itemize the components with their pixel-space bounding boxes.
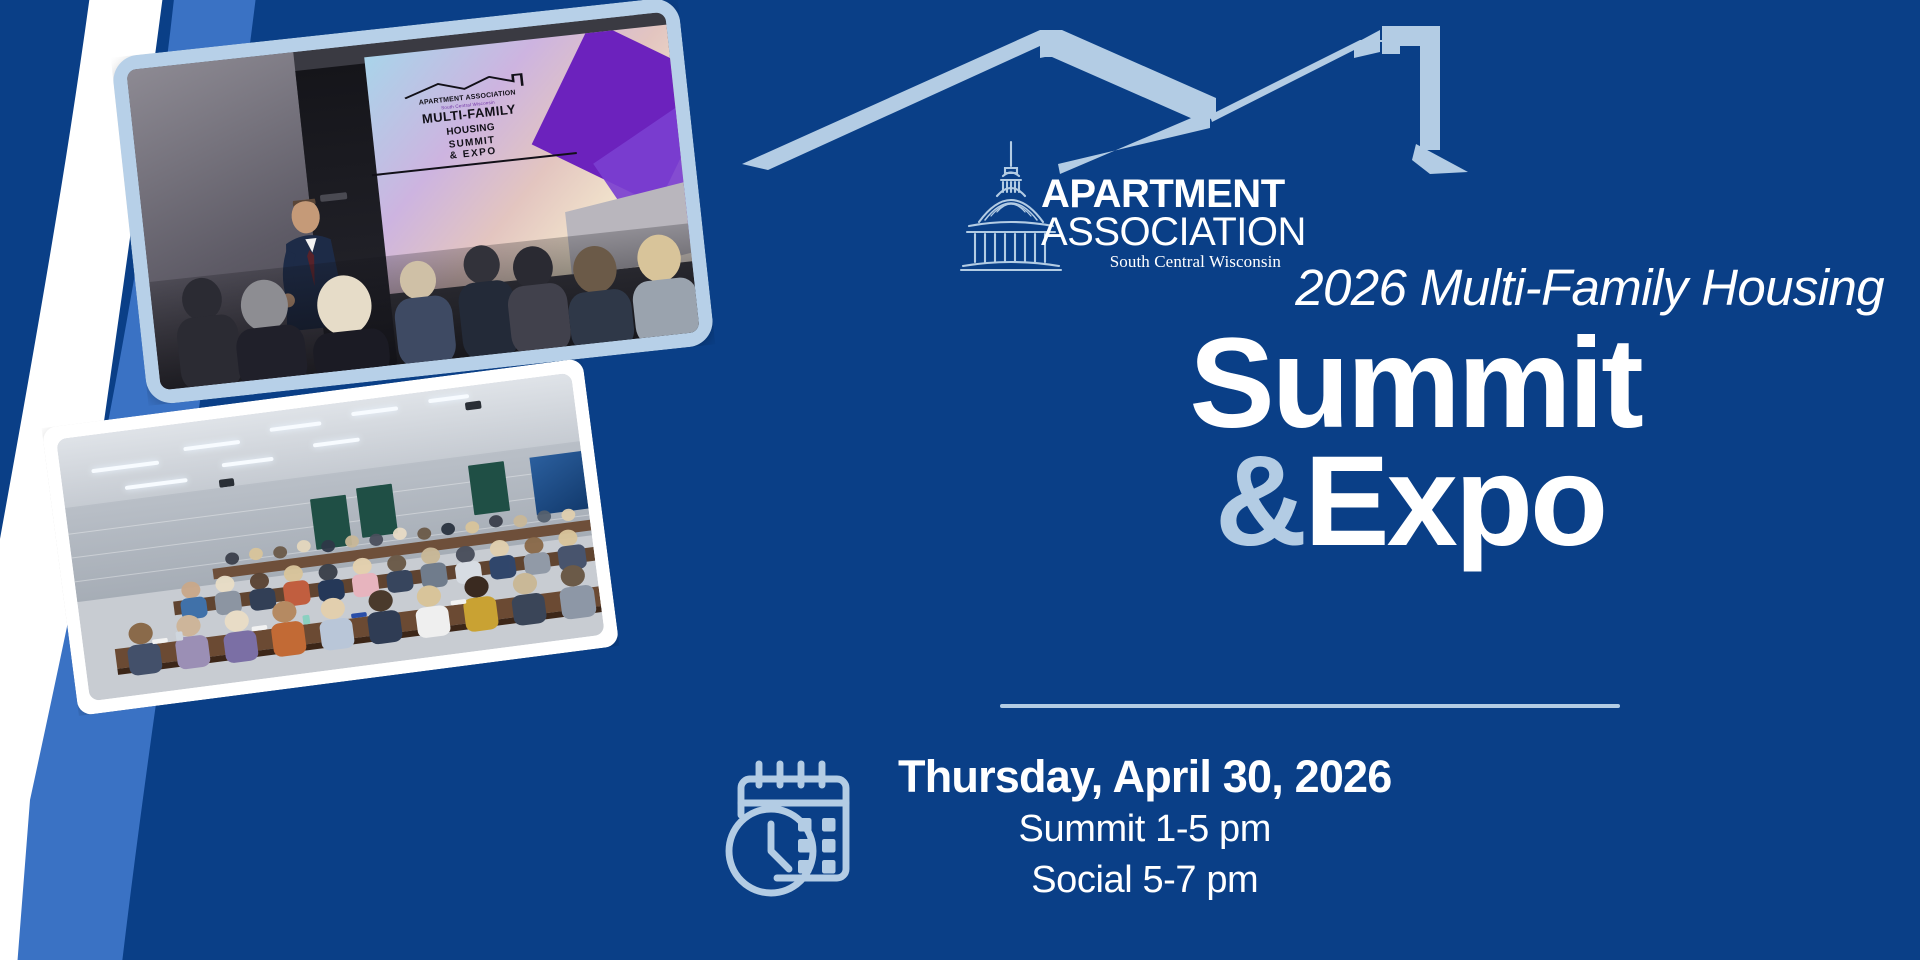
association-logo: APARTMENT ASSOCIATION South Central Wisc…: [945, 140, 1275, 280]
event-datetime-text: Thursday, April 30, 2026 Summit 1-5 pm S…: [898, 752, 1392, 905]
calendar-clock-icon: [720, 752, 870, 902]
association-logo-text: APARTMENT ASSOCIATION South Central Wisc…: [1041, 176, 1281, 272]
event-title-group: 2026 Multi-Family Housing Summit &Expo: [900, 262, 1920, 566]
ampersand-glyph: &: [1215, 430, 1304, 573]
event-pretitle: 2026 Multi-Family Housing: [900, 262, 1920, 313]
logo-line-association: ASSOCIATION: [1041, 213, 1281, 251]
right-content-column: APARTMENT ASSOCIATION South Central Wisc…: [900, 0, 1920, 960]
logo-line-apartment: APARTMENT: [1041, 176, 1281, 213]
event-time-social: Social 5-7 pm: [898, 857, 1392, 905]
title-divider: [1000, 704, 1620, 708]
event-title-expo-line: &Expo: [900, 438, 1920, 566]
event-banner: APARTMENT ASSOCIATION South Central Wisc…: [0, 0, 1920, 960]
event-title-expo: Expo: [1304, 430, 1605, 573]
photo-presenter-session: APARTMENT ASSOCIATION South Central Wisc…: [111, 0, 715, 406]
event-date: Thursday, April 30, 2026: [898, 752, 1392, 802]
event-datetime-block: Thursday, April 30, 2026 Summit 1-5 pm S…: [900, 752, 1920, 905]
event-time-summit: Summit 1-5 pm: [898, 806, 1392, 854]
